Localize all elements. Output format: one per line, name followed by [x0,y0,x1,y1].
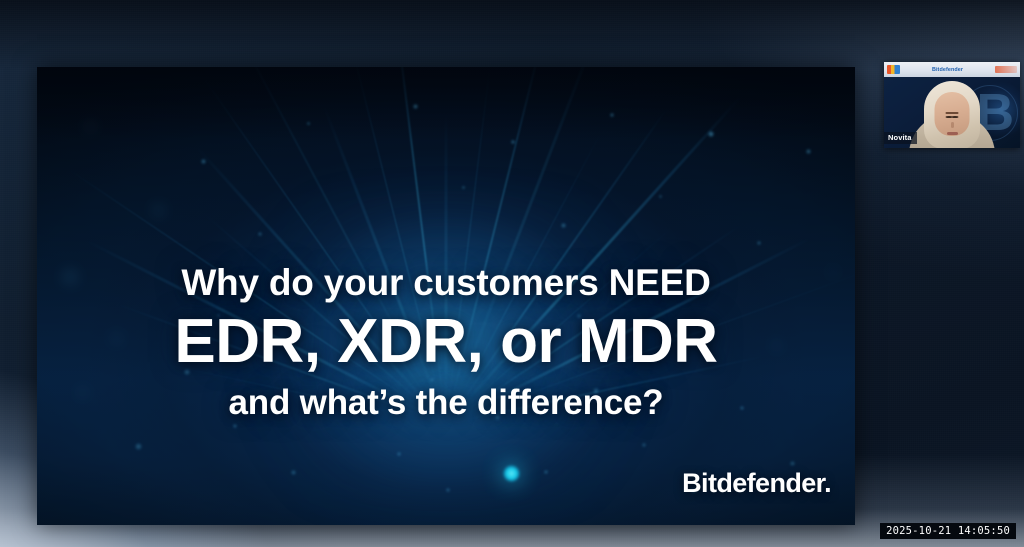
slide-title-line-3: and what’s the difference? [37,384,855,423]
meeting-screen-share-view: Why do your customers NEED EDR, XDR, or … [0,0,1024,547]
video-banner-title: Bitdefender [900,67,995,73]
recording-timestamp: 2025-10-21 14:05:50 [880,523,1016,539]
banner-accent-mark-icon [995,66,1017,73]
bitdefender-logo-text: Bitdefender [682,468,824,498]
partner-logo-icon [887,65,900,74]
slide-title-line-2: EDR, XDR, or MDR [37,307,855,376]
participant-mouth [947,132,958,135]
presentation-slide[interactable]: Why do your customers NEED EDR, XDR, or … [37,67,855,525]
video-feed: B Novita [884,77,1020,148]
backdrop-top-shade [0,0,1024,70]
slide-title-line-1: Why do your customers NEED [37,263,855,303]
participant-brow-right [950,112,959,114]
bitdefender-logo: Bitdefender. [682,468,831,499]
participant-face [935,92,970,136]
participant-name-label: Novita [884,132,917,144]
participant-eye-right [951,116,958,118]
slide-title-block: Why do your customers NEED EDR, XDR, or … [37,263,855,423]
participant-nose [951,122,954,128]
video-top-banner: Bitdefender [884,62,1020,77]
bitdefender-logo-dot: . [824,468,831,498]
participant-video-tile[interactable]: Bitdefender B Novita [884,62,1020,148]
